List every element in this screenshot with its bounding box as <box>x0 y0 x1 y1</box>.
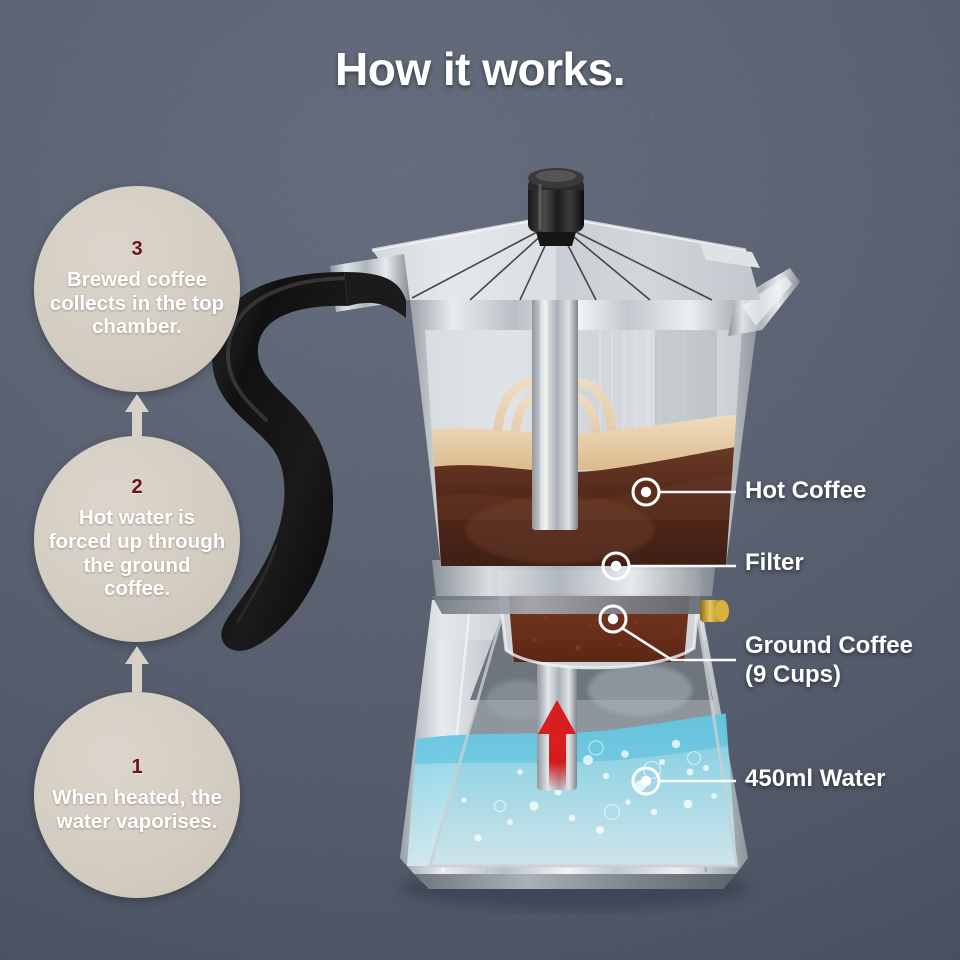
callout-label-hot-coffee: Hot Coffee <box>745 477 866 506</box>
marker-hot-coffee[interactable] <box>633 479 659 505</box>
infographic-canvas: How it works. 3 Brewed coffee collects i… <box>0 0 960 960</box>
marker-water[interactable] <box>633 768 659 794</box>
callout-label-water: 450ml Water <box>745 765 886 794</box>
marker-filter[interactable] <box>603 553 629 579</box>
callout-markers <box>600 479 659 794</box>
callout-label-filter: Filter <box>745 549 804 578</box>
leader-line-ground-coffee <box>622 628 736 660</box>
callout-label-ground-coffee: Ground Coffee (9 Cups) <box>745 632 913 690</box>
marker-ground-coffee[interactable] <box>600 606 626 632</box>
